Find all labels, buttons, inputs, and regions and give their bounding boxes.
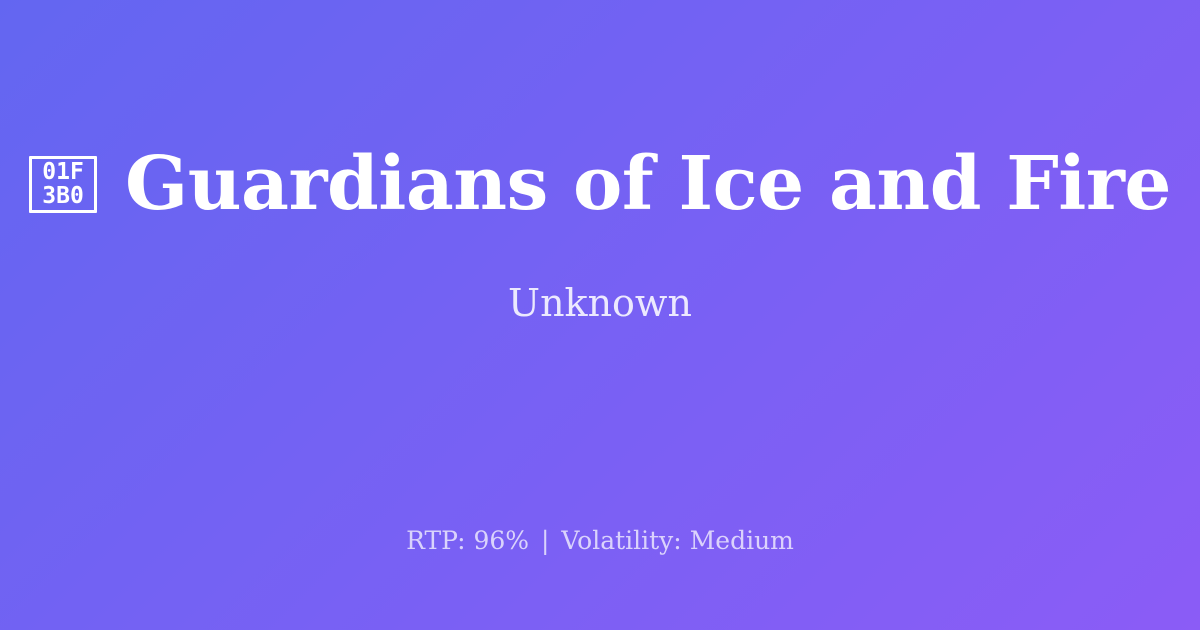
footer-separator: | bbox=[537, 526, 553, 555]
notdef-hex-row-top: 01F bbox=[42, 161, 84, 184]
volatility-label: Volatility: bbox=[561, 526, 681, 555]
subtitle: Unknown bbox=[508, 280, 692, 326]
notdef-hex-row-bottom: 3B0 bbox=[42, 185, 84, 208]
rtp-value: 96% bbox=[473, 526, 529, 555]
title-row: 01F 3B0 Guardians of Ice and Fire bbox=[29, 144, 1171, 224]
volatility-value: Medium bbox=[690, 526, 794, 555]
og-share-card: 01F 3B0 Guardians of Ice and Fire Unknow… bbox=[0, 0, 1200, 630]
rtp-label: RTP: bbox=[406, 526, 465, 555]
notdef-hex-box-icon: 01F 3B0 bbox=[29, 156, 97, 213]
notdef-hex-box-inner: 01F 3B0 bbox=[42, 161, 84, 208]
footer-metadata: RTP: 96% | Volatility: Medium bbox=[0, 524, 1200, 558]
page-title: Guardians of Ice and Fire bbox=[125, 144, 1171, 224]
hero-block: 01F 3B0 Guardians of Ice and Fire Unknow… bbox=[0, 0, 1200, 470]
